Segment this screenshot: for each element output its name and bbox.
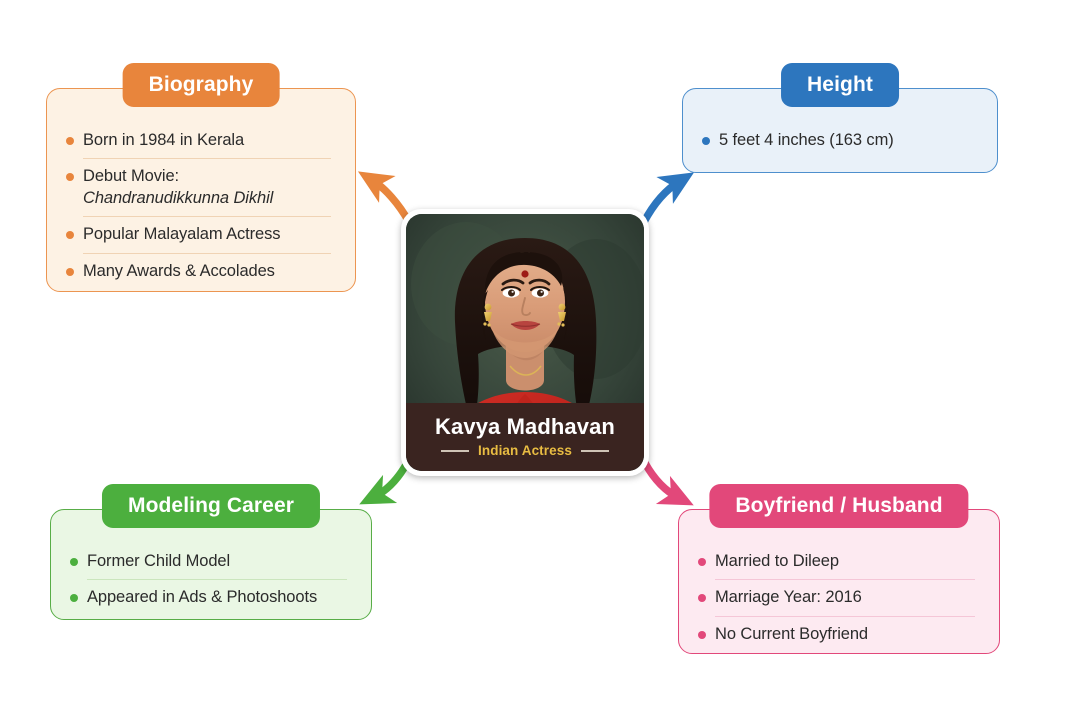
card-boyfriend-husband-header: Boyfriend / Husband xyxy=(709,484,968,528)
card-boyfriend-husband[interactable]: Boyfriend / Husband Married to Dileep Ma… xyxy=(678,509,1000,654)
bullet-dot-icon xyxy=(66,173,74,181)
infographic-canvas: Biography Born in 1984 in Kerala Debut M… xyxy=(0,0,1068,712)
list-item[interactable]: Popular Malayalam Actress xyxy=(63,217,337,252)
connector-to-biography-arrow xyxy=(372,180,409,222)
list-item-label: Popular Malayalam Actress xyxy=(83,224,337,245)
card-height[interactable]: Height 5 feet 4 inches (163 cm) xyxy=(682,88,998,173)
connector-to-modeling-career-arrow xyxy=(374,463,407,497)
list-item-label: 5 feet 4 inches (163 cm) xyxy=(719,130,979,151)
bullet-dot-icon xyxy=(698,631,706,639)
card-modeling-career[interactable]: Modeling Career Former Child Model Appea… xyxy=(50,509,372,620)
list-item-label: Former Child Model xyxy=(87,551,353,572)
connector-to-height-arrow xyxy=(644,181,680,222)
list-item[interactable]: Marriage Year: 2016 xyxy=(695,580,981,615)
center-portrait-card[interactable]: Kavya Madhavan Indian Actress xyxy=(401,209,649,476)
bullet-dot-icon xyxy=(70,594,78,602)
list-item-label: Born in 1984 in Kerala xyxy=(83,130,337,151)
list-item-label-italic: Chandranudikkunna Dikhil xyxy=(83,188,337,209)
person-name: Kavya Madhavan xyxy=(435,416,615,438)
list-item-label: Many Awards & Accolades xyxy=(83,261,337,282)
bullet-dot-icon xyxy=(66,268,74,276)
connector-to-boyfriend-husband-arrow xyxy=(645,463,679,498)
bullet-dot-icon xyxy=(698,594,706,602)
bullet-dot-icon xyxy=(66,137,74,145)
list-item-label: Debut Movie:Chandranudikkunna Dikhil xyxy=(83,166,337,209)
list-item-label: Marriage Year: 2016 xyxy=(715,587,981,608)
list-item[interactable]: Married to Dileep xyxy=(695,544,981,579)
card-modeling-career-header: Modeling Career xyxy=(102,484,320,528)
card-boyfriend-husband-body: Married to Dileep Marriage Year: 2016 No… xyxy=(679,510,999,666)
list-item[interactable]: Appeared in Ads & Photoshoots xyxy=(67,580,353,615)
list-item[interactable]: Debut Movie:Chandranudikkunna Dikhil xyxy=(63,159,337,216)
person-role: Indian Actress xyxy=(478,444,572,458)
list-item-label: No Current Boyfriend xyxy=(715,624,981,645)
card-biography[interactable]: Biography Born in 1984 in Kerala Debut M… xyxy=(46,88,356,292)
portrait-frame: Kavya Madhavan Indian Actress xyxy=(406,214,644,471)
list-item[interactable]: No Current Boyfriend xyxy=(695,617,981,652)
bullet-dot-icon xyxy=(702,137,710,145)
rule-right xyxy=(581,450,609,452)
card-biography-header: Biography xyxy=(123,63,280,107)
list-item[interactable]: Born in 1984 in Kerala xyxy=(63,123,337,158)
list-item[interactable]: Former Child Model xyxy=(67,544,353,579)
list-item[interactable]: 5 feet 4 inches (163 cm) xyxy=(699,123,979,158)
bullet-dot-icon xyxy=(66,231,74,239)
person-role-wrap: Indian Actress xyxy=(441,444,609,458)
card-height-header: Height xyxy=(781,63,899,107)
list-item[interactable]: Many Awards & Accolades xyxy=(63,254,337,289)
bullet-dot-icon xyxy=(698,558,706,566)
list-item-label: Married to Dileep xyxy=(715,551,981,572)
list-item-label: Appeared in Ads & Photoshoots xyxy=(87,587,353,608)
name-plate: Kavya Madhavan Indian Actress xyxy=(406,403,644,471)
rule-left xyxy=(441,450,469,452)
list-item-label-primary: Debut Movie: xyxy=(83,167,179,185)
bullet-dot-icon xyxy=(70,558,78,566)
card-biography-body: Born in 1984 in Kerala Debut Movie:Chand… xyxy=(47,89,355,303)
